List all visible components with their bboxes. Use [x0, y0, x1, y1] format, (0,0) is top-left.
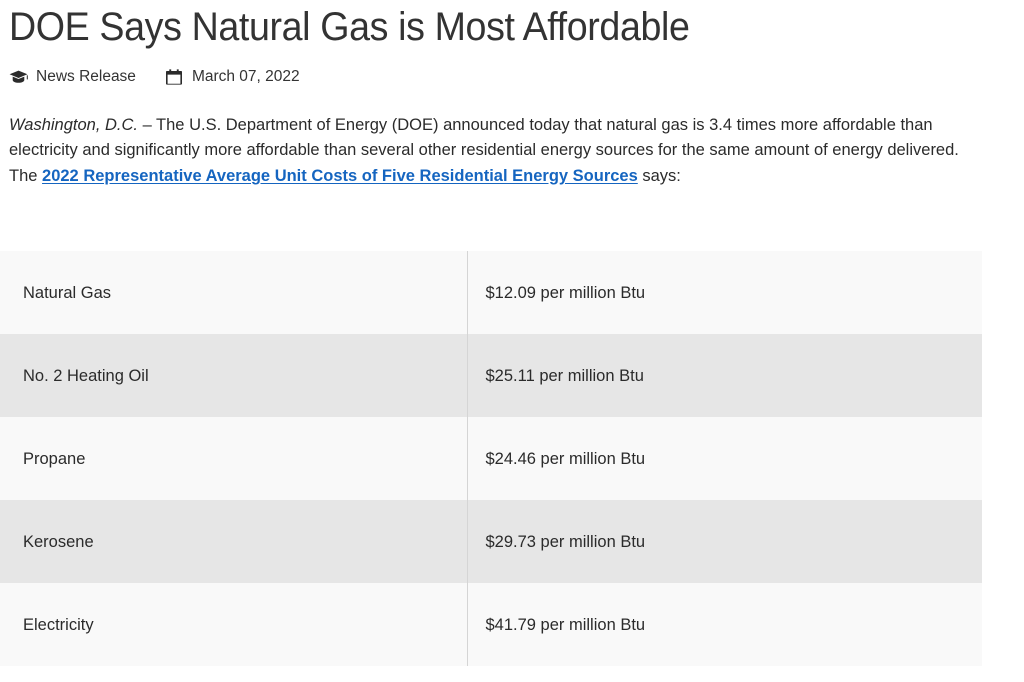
cell-energy-cost: $41.79 per million Btu	[467, 583, 982, 666]
calendar-icon	[165, 69, 184, 85]
graduation-cap-icon	[9, 69, 28, 85]
table-row: No. 2 Heating Oil $25.11 per million Btu	[0, 334, 982, 417]
table-row: Natural Gas $12.09 per million Btu	[0, 251, 982, 334]
dateline: Washington, D.C.	[9, 116, 143, 134]
cell-energy-source: No. 2 Heating Oil	[0, 334, 467, 417]
page-title: DOE Says Natural Gas is Most Affordable	[9, 0, 955, 52]
meta-item-type: News Release	[9, 69, 136, 85]
table-body: Natural Gas $12.09 per million Btu No. 2…	[0, 251, 982, 666]
cell-energy-source: Natural Gas	[0, 251, 467, 334]
cell-energy-cost: $29.73 per million Btu	[467, 500, 982, 583]
cell-energy-source: Kerosene	[0, 500, 467, 583]
cell-energy-cost: $25.11 per million Btu	[467, 334, 982, 417]
table-row: Electricity $41.79 per million Btu	[0, 583, 982, 666]
meta-item-date: March 07, 2022	[165, 69, 300, 85]
representative-average-unit-costs-link[interactable]: 2022 Representative Average Unit Costs o…	[42, 167, 638, 185]
table-row: Propane $24.46 per million Btu	[0, 417, 982, 500]
meta-type-label: News Release	[36, 69, 136, 85]
energy-cost-table: Natural Gas $12.09 per million Btu No. 2…	[0, 251, 982, 666]
paragraph-text-after-link: says:	[638, 167, 681, 185]
cell-energy-source: Electricity	[0, 583, 467, 666]
article-lead-paragraph: Washington, D.C. – The U.S. Department o…	[9, 88, 975, 189]
article-meta: News Release March 07, 2022	[9, 66, 1015, 88]
article-page: DOE Says Natural Gas is Most Affordable …	[0, 0, 1024, 682]
table-row: Kerosene $29.73 per million Btu	[0, 500, 982, 583]
meta-date-label: March 07, 2022	[192, 69, 300, 85]
cell-energy-cost: $24.46 per million Btu	[467, 417, 982, 500]
cell-energy-cost: $12.09 per million Btu	[467, 251, 982, 334]
cell-energy-source: Propane	[0, 417, 467, 500]
